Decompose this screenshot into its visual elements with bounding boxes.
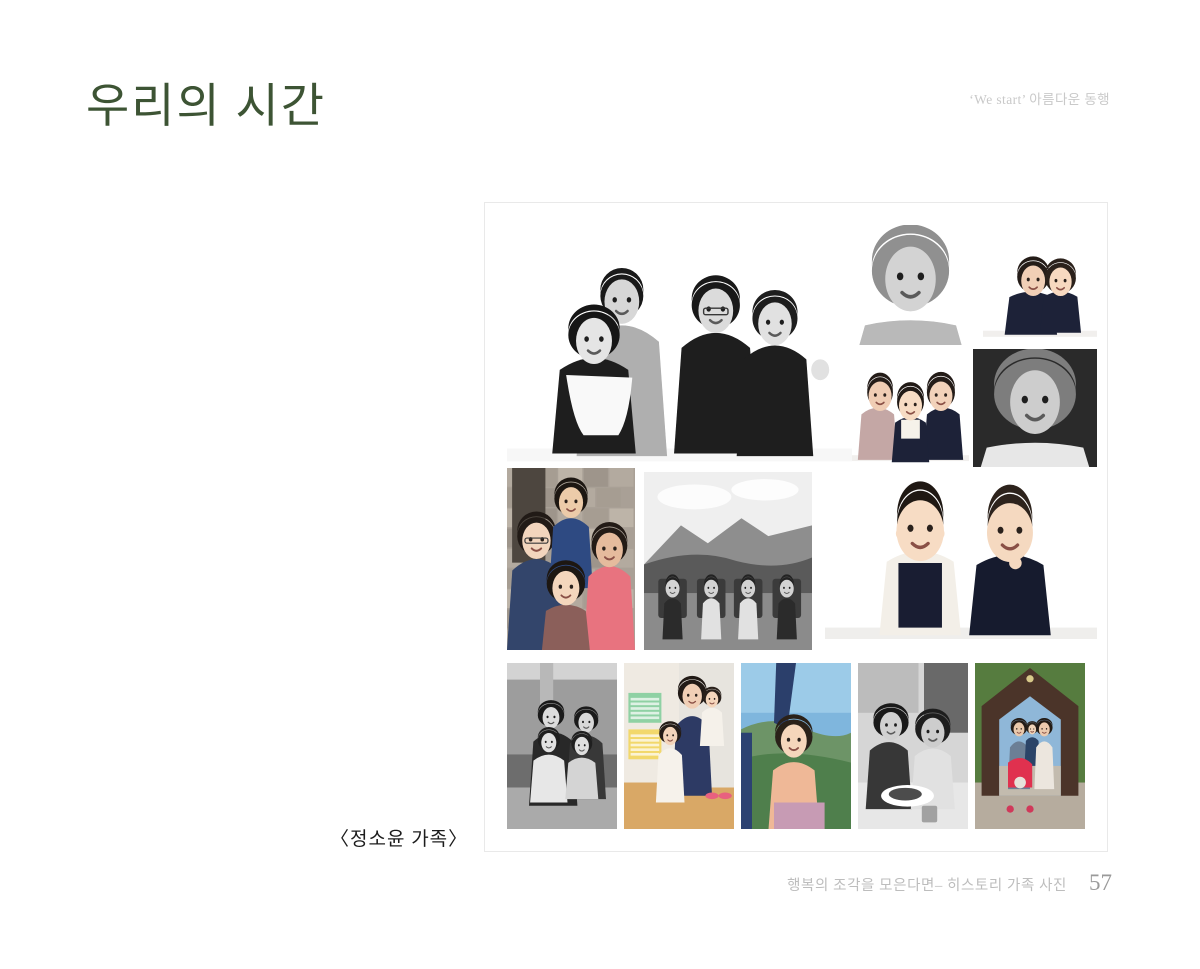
page-number: 57 xyxy=(1089,870,1112,896)
girl-black-and-white-portrait xyxy=(973,349,1097,467)
two-sisters-studio-portrait xyxy=(825,468,1097,658)
header-tagline: ‘We start’ 아름다운 동행 xyxy=(969,88,1110,108)
mother-kissing-daughter-studio xyxy=(983,243,1097,345)
family-mountain-picnic-bw xyxy=(644,472,812,650)
family-of-four-studio-portrait xyxy=(507,223,855,485)
girl-in-cable-car xyxy=(741,663,851,829)
slide-footer: 행복의 조각을 모은다면– 히스토리 가족 사진 57 xyxy=(787,870,1112,896)
page-title: 우리의 시간 xyxy=(86,80,326,134)
father-holding-children-at-home xyxy=(624,663,734,829)
family-park-bench-bw xyxy=(507,663,617,829)
photo-caption: 〈정소윤 가족〉 xyxy=(330,824,468,851)
parents-kissing-child-studio xyxy=(852,349,969,467)
footer-text: 행복의 조각을 모은다면– 히스토리 가족 사진 xyxy=(787,874,1067,895)
photo-collage-frame xyxy=(484,202,1108,852)
family-selfie-stone-wall xyxy=(507,468,635,650)
children-at-snack-table-bw xyxy=(858,663,968,829)
toddler-black-and-white-closeup xyxy=(852,225,969,345)
family-at-garden-entrance xyxy=(975,663,1085,829)
